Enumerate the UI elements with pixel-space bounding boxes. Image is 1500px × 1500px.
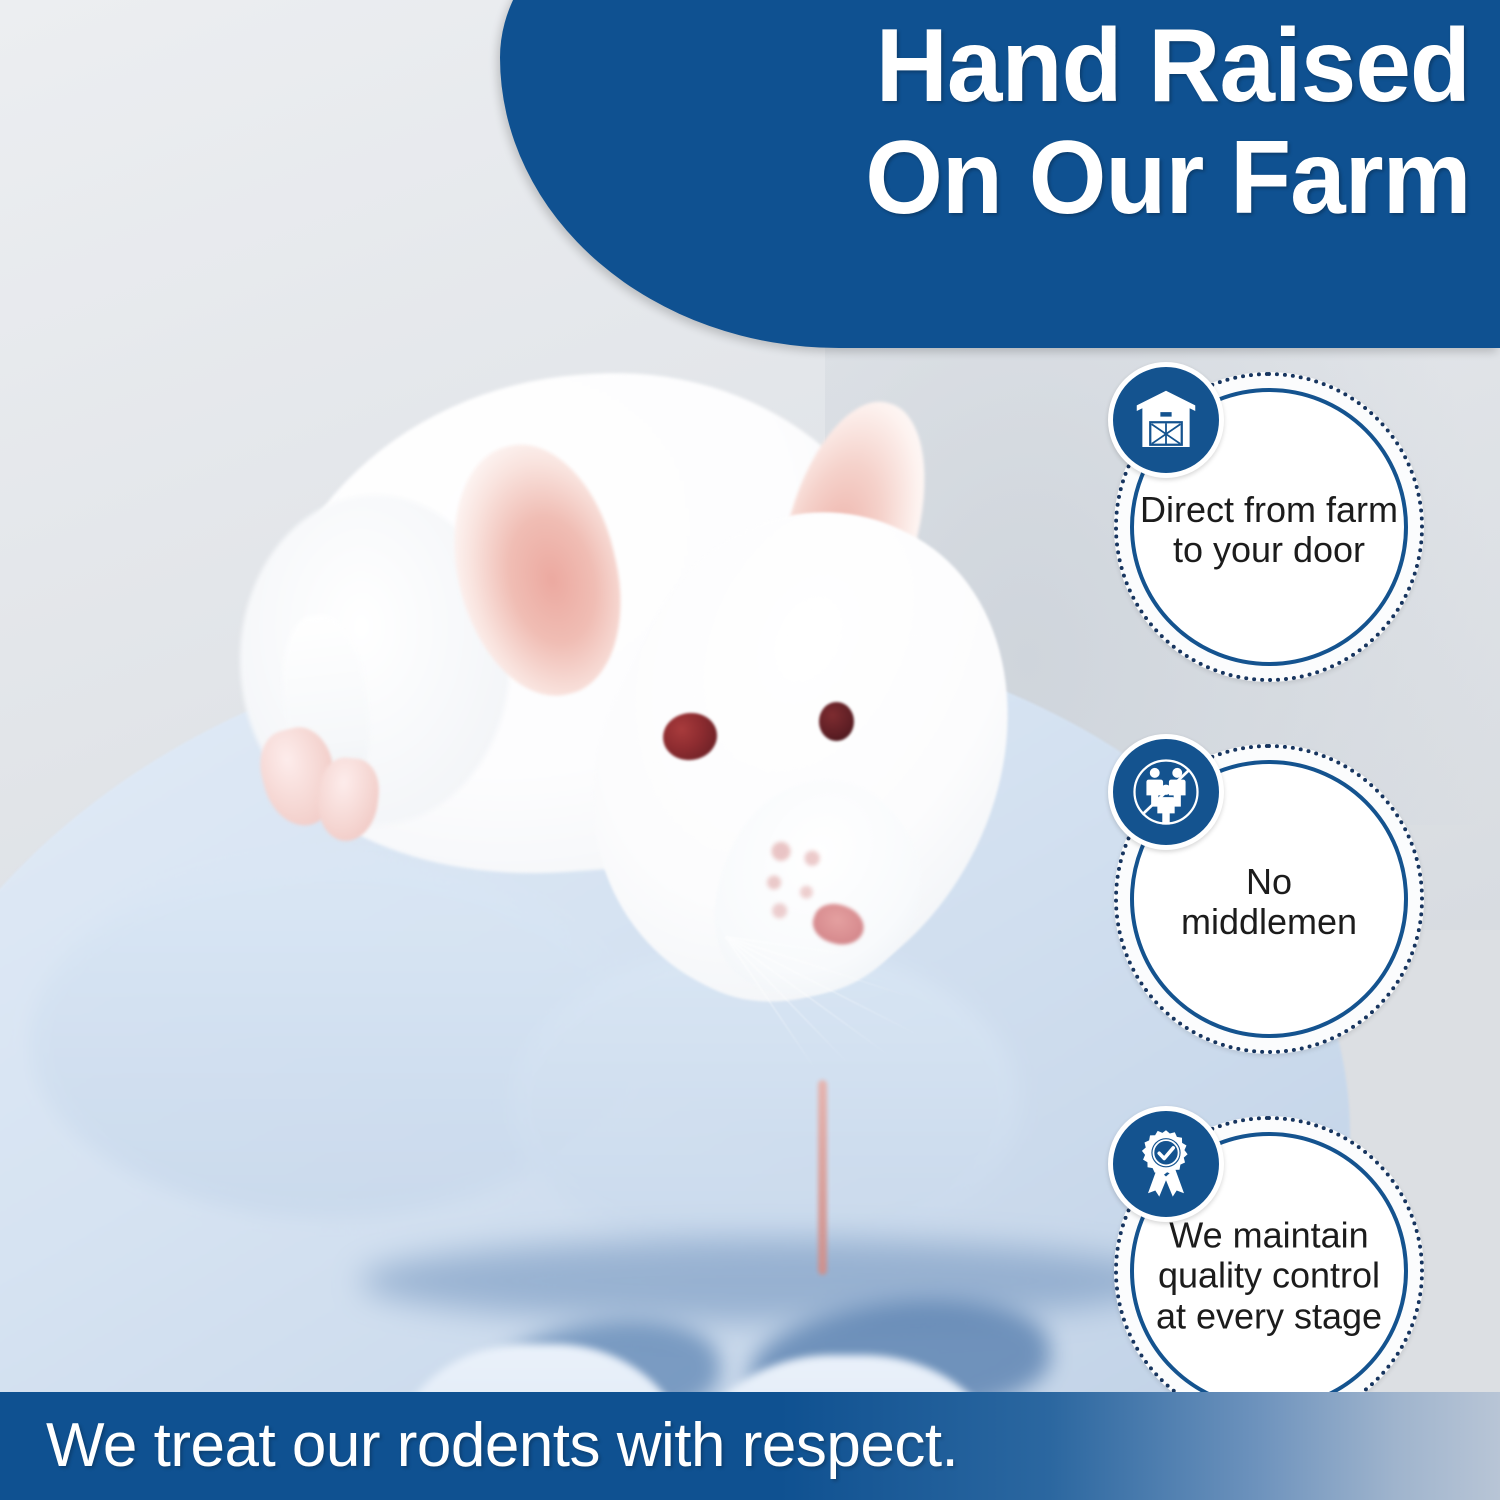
no-middlemen-icon: [1108, 734, 1224, 850]
feature-badge[interactable]: Direct from farm to your door: [1114, 372, 1424, 682]
footer-caption: We treat our rodents with respect.: [46, 1415, 958, 1477]
feature-badge-list: Direct from farm to your door No middlem…: [1100, 372, 1440, 1488]
feature-badge[interactable]: No middlemen: [1114, 744, 1424, 1054]
promo-poster: Hand Raised On Our Farm Direct from farm…: [0, 0, 1500, 1500]
barn-icon: [1108, 362, 1224, 478]
headline-line-1: Hand Raised: [876, 10, 1470, 122]
header-banner-text: Hand Raised On Our Farm: [500, 0, 1470, 348]
badge-label: No middlemen: [1140, 862, 1398, 943]
headline-line-2: On Our Farm: [865, 122, 1470, 234]
header-banner: Hand Raised On Our Farm: [500, 0, 1500, 348]
feature-badge[interactable]: We maintain quality control at every sta…: [1114, 1116, 1424, 1426]
badge-label: Direct from farm to your door: [1140, 490, 1398, 571]
footer-caption-bar: We treat our rodents with respect.: [0, 1392, 1500, 1500]
award-ribbon-icon: [1108, 1106, 1224, 1222]
badge-label: We maintain quality control at every sta…: [1140, 1215, 1398, 1336]
mouse-eye-right: [819, 702, 854, 741]
